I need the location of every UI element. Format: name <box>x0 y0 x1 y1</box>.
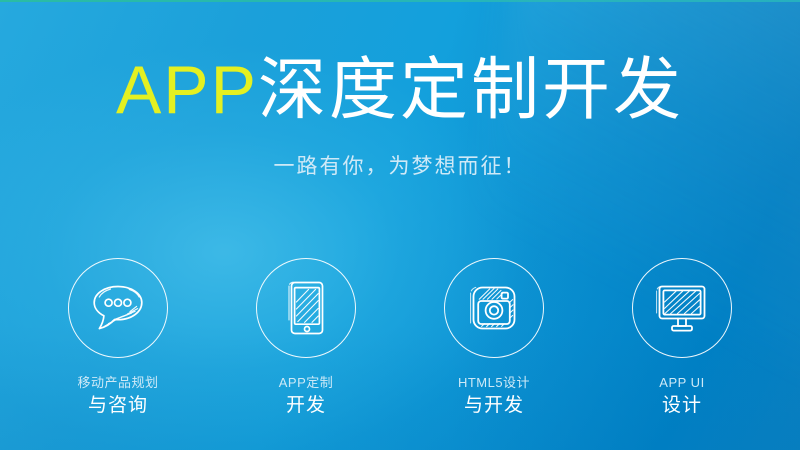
headline-main-text: 深度定制开发 <box>258 52 684 128</box>
feature-caption-bottom: 开发 <box>279 393 334 419</box>
feature-caption-bottom: 设计 <box>659 393 704 419</box>
banner-canvas: APP深度定制开发 一路有你，为梦想而征！ <box>0 0 800 450</box>
feature-list: 移动产品规划 与咨询 <box>0 258 800 418</box>
top-edge-strip <box>0 0 800 2</box>
feature-caption-top: 移动产品规划 <box>77 374 158 392</box>
feature-caption-top: APP定制 <box>279 374 334 392</box>
feature-caption-bottom: 与开发 <box>458 393 530 419</box>
feature-item-app-development[interactable]: APP定制 开发 <box>254 258 358 418</box>
feature-caption-top: HTML5设计 <box>458 374 530 392</box>
headline-container: APP深度定制开发 <box>0 56 800 124</box>
feature-item-consulting[interactable]: 移动产品规划 与咨询 <box>66 258 170 418</box>
camera-icon <box>465 279 523 337</box>
feature-caption-bottom: 与咨询 <box>77 393 158 419</box>
chat-bubble-icon <box>89 280 147 336</box>
feature-item-html5[interactable]: HTML5设计 与开发 <box>442 258 546 418</box>
tablet-device-icon <box>282 278 330 338</box>
feature-caption: 移动产品规划 与咨询 <box>77 374 158 418</box>
feature-item-ui-design[interactable]: APP UI 设计 <box>630 258 734 418</box>
feature-icon-circle <box>68 258 168 358</box>
page-title: APP深度定制开发 <box>0 56 800 124</box>
feature-icon-circle <box>444 258 544 358</box>
headline-accent-text: APP <box>116 52 258 128</box>
feature-caption: APP定制 开发 <box>279 374 334 418</box>
feature-caption: APP UI 设计 <box>659 374 704 418</box>
page-subtitle: 一路有你，为梦想而征！ <box>0 150 800 180</box>
feature-icon-circle <box>632 258 732 358</box>
feature-caption-top: APP UI <box>659 374 704 392</box>
feature-caption: HTML5设计 与开发 <box>458 374 530 418</box>
desktop-monitor-icon <box>651 280 713 336</box>
feature-icon-circle <box>256 258 356 358</box>
